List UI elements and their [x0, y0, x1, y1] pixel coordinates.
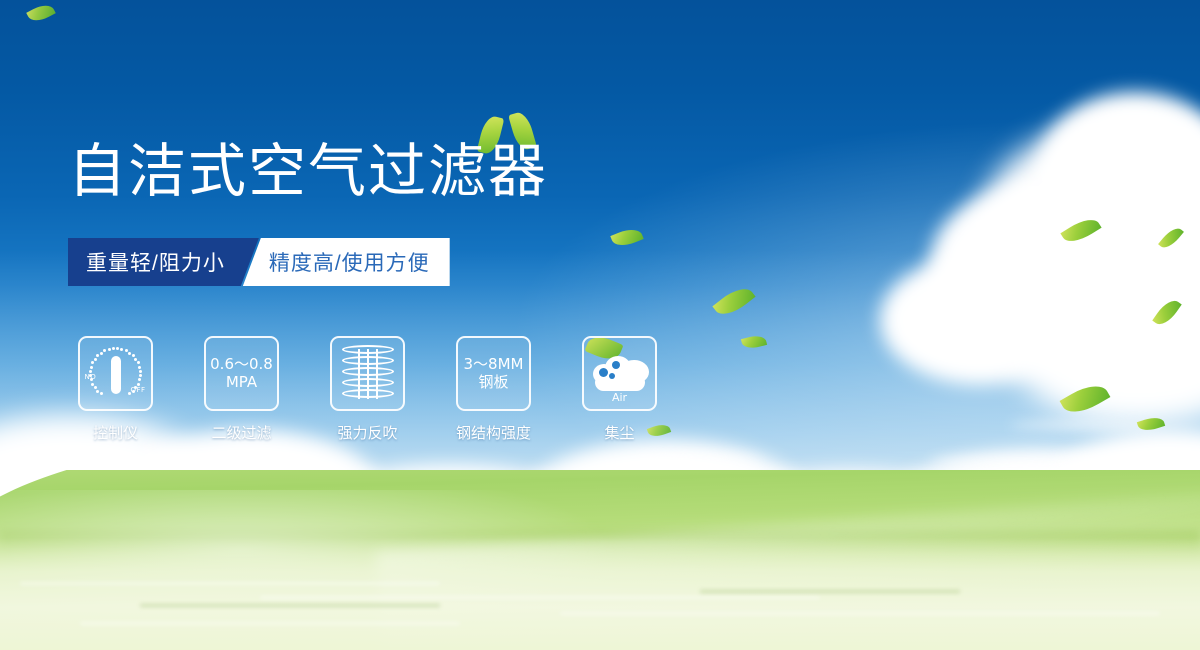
gauge-tick — [120, 348, 123, 351]
grass-streak — [80, 622, 460, 625]
gauge-tick — [132, 390, 135, 393]
floating-leaf — [610, 225, 643, 250]
gauge-tick — [128, 392, 131, 395]
gauge-tick — [89, 370, 92, 373]
feature-item-controller[interactable]: NO OFF 控制仪 — [78, 336, 153, 443]
gauge-tick — [103, 349, 106, 352]
gauge-tick — [137, 361, 140, 364]
gauge-tick — [132, 354, 135, 357]
gauge-tick — [112, 347, 115, 350]
gauge-tick — [96, 390, 99, 393]
tagline-primary: 重量轻/阻力小 — [68, 238, 259, 286]
grass-foreground — [0, 538, 1200, 650]
feature-label: 强力反吹 — [337, 422, 397, 443]
feature-card: NO OFF — [78, 336, 153, 411]
pressure-text-icon: 0.6〜0.8 MPA — [210, 356, 273, 391]
feature-label: 钢结构强度 — [456, 422, 531, 443]
gauge-tick — [116, 347, 119, 350]
gauge-tick — [128, 352, 131, 355]
feature-item-blowback[interactable]: 强力反吹 — [330, 336, 405, 443]
gauge-tick — [108, 348, 111, 351]
gauge-tick — [96, 354, 99, 357]
floating-leaf — [26, 1, 56, 26]
gauge-tick — [139, 374, 142, 377]
gauge-tick — [134, 358, 137, 361]
product-banner: 自洁式空气过滤器 重量轻/阻力小 精度高/使用方便 NO OFF 控制仪 0.6… — [0, 0, 1200, 650]
steel-text-icon: 3〜8MM 钢板 — [464, 356, 524, 391]
grass-streak — [140, 604, 440, 607]
cloud-wisp — [930, 455, 1110, 469]
grass-streak — [560, 612, 1160, 615]
gauge-tick — [139, 370, 142, 373]
feature-card: 0.6〜0.8 MPA — [204, 336, 279, 411]
coil-icon — [342, 345, 394, 403]
feature-item-filter[interactable]: 0.6〜0.8 MPA 二级过滤 — [204, 336, 279, 443]
feature-card: 3〜8MM 钢板 — [456, 336, 531, 411]
feature-label: 集尘 — [604, 422, 634, 443]
gauge-tick — [125, 349, 128, 352]
grass-streak — [20, 582, 440, 585]
gauge-needle — [111, 356, 121, 394]
gauge-tick — [138, 378, 141, 381]
feature-list: NO OFF 控制仪 0.6〜0.8 MPA 二级过滤 — [78, 336, 657, 443]
floating-leaf — [712, 282, 755, 322]
steel-thickness: 3〜8MM — [464, 356, 524, 373]
grass-streak — [260, 596, 820, 599]
gauge-tick — [100, 352, 103, 355]
grass-streak — [700, 590, 960, 593]
pressure-value: 0.6〜0.8 — [210, 356, 273, 373]
feature-label: 控制仪 — [93, 422, 138, 443]
tagline-secondary: 精度高/使用方便 — [243, 238, 450, 286]
pressure-unit: MPA — [210, 374, 273, 391]
gauge-tick — [138, 366, 141, 369]
air-text: Air — [589, 391, 651, 404]
gauge-tick — [90, 378, 93, 381]
floating-leaf — [741, 333, 767, 351]
gauge-tick — [100, 392, 103, 395]
gauge-tick — [94, 386, 97, 389]
gauge-tick — [91, 383, 94, 386]
gauge-tick — [90, 366, 93, 369]
gauge-tick — [137, 383, 140, 386]
gauge-icon: NO OFF — [85, 343, 147, 405]
grass-field — [0, 470, 1200, 650]
feature-item-steel[interactable]: 3〜8MM 钢板 钢结构强度 — [456, 336, 531, 443]
feature-card — [330, 336, 405, 411]
gauge-tick — [94, 358, 97, 361]
feature-card: Air — [582, 336, 657, 411]
feature-item-dust[interactable]: Air 集尘 — [582, 336, 657, 443]
gauge-tick — [91, 361, 94, 364]
steel-material: 钢板 — [464, 374, 524, 391]
cloud-air-icon: Air — [589, 348, 651, 400]
tagline-bar: 重量轻/阻力小 精度高/使用方便 — [68, 238, 450, 286]
feature-label: 二级过滤 — [211, 422, 271, 443]
page-title: 自洁式空气过滤器 — [68, 142, 548, 200]
cloud-wisp — [640, 455, 760, 464]
